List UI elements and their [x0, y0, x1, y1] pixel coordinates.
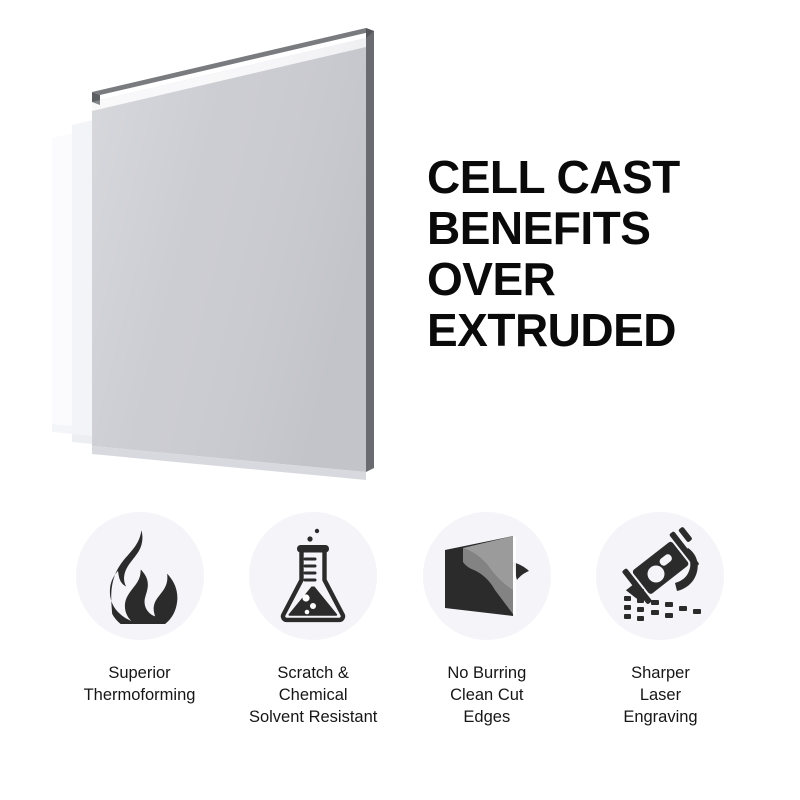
- benefit-label: Scratch & Chemical Solvent Resistant: [249, 662, 377, 728]
- icon-background-circle: [76, 512, 204, 640]
- graduation-marks: [305, 559, 315, 580]
- laser-engraver-icon: [610, 526, 710, 626]
- headline-line-4: EXTRUDED: [427, 305, 787, 356]
- benefit-item-clean-cut-edges: No Burring Clean Cut Edges: [405, 505, 568, 728]
- benefit-item-thermoforming: Superior Thermoforming: [58, 505, 221, 706]
- headline-line-3: OVER: [427, 254, 787, 305]
- back-sheet: [92, 28, 374, 480]
- peeling-film-sheet-icon: [439, 528, 535, 624]
- benefits-row: Superior Thermoforming: [0, 505, 800, 800]
- liquid-bubble: [303, 594, 310, 601]
- benefit-item-chemical-resistant: Scratch & Chemical Solvent Resistant: [232, 505, 395, 728]
- flask-icon: [270, 526, 356, 626]
- flame-icon: [97, 528, 183, 624]
- product-image-acrylic-sheets: [40, 20, 440, 490]
- icon-background-circle: [423, 512, 551, 640]
- benefit-label: Superior Thermoforming: [84, 662, 196, 706]
- benefit-item-laser-engraving: Sharper Laser Engraving: [579, 505, 742, 728]
- bubble-dot: [315, 529, 319, 533]
- infographic-page: CELL CAST BENEFITS OVER EXTRUDED Superio…: [0, 0, 800, 800]
- headline-line-1: CELL CAST: [427, 152, 787, 203]
- page-title: CELL CAST BENEFITS OVER EXTRUDED: [427, 152, 787, 356]
- benefit-label: No Burring Clean Cut Edges: [447, 662, 526, 728]
- bubble-dot: [308, 536, 313, 541]
- icon-background-circle: [249, 512, 377, 640]
- liquid-bubble: [310, 603, 316, 609]
- headline-line-2: BENEFITS: [427, 203, 787, 254]
- benefit-label: Sharper Laser Engraving: [623, 662, 697, 728]
- hero-section: CELL CAST BENEFITS OVER EXTRUDED: [0, 0, 800, 500]
- liquid-bubble: [305, 610, 310, 615]
- icon-background-circle: [596, 512, 724, 640]
